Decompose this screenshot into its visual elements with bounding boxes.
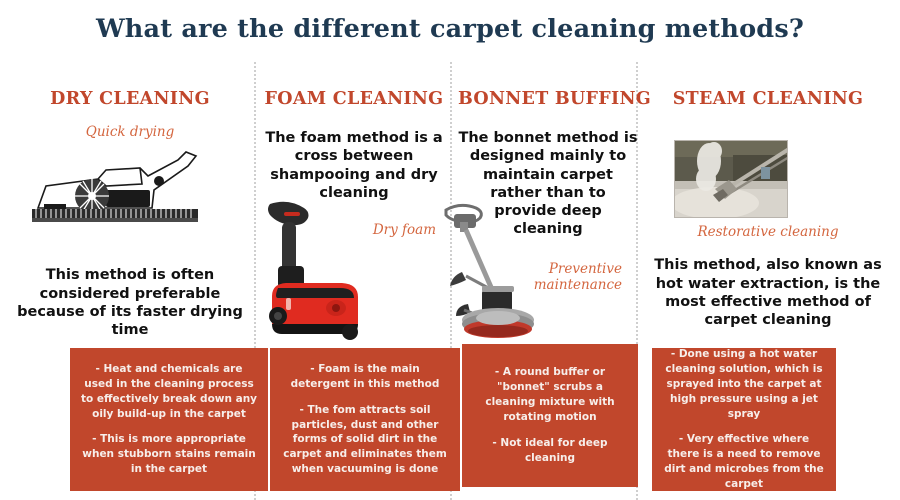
fact-item: - Foam is the main detergent in this met…	[280, 362, 450, 392]
column-steam-text-group: Restorative cleaning This method, also k…	[644, 224, 892, 344]
column-heading-dry-cleaning: DRY CLEANING	[8, 89, 252, 109]
fact-item: - Very effective where there is a need t…	[662, 432, 826, 492]
foam-cleaning-machine-photo	[258, 200, 374, 344]
fact-item: - Heat and chemicals are used in the cle…	[80, 362, 258, 422]
column-description-steam-cleaning: This method, also known as hot water ext…	[644, 256, 892, 329]
column-heading-steam-cleaning: STEAM CLEANING	[644, 89, 892, 109]
facts-box-steam-cleaning: - Done using a hot water cleaning soluti…	[652, 348, 836, 491]
column-heading-bonnet-buffing: BONNET BUFFING	[458, 89, 638, 109]
steam-cleaning-carpet-photo	[674, 140, 788, 218]
facts-box-bonnet-buffing: - A round buffer or "bonnet" scrubs a cl…	[462, 344, 638, 487]
page-title: What are the different carpet cleaning m…	[0, 14, 900, 44]
column-heading-foam-cleaning: FOAM CLEANING	[262, 89, 446, 109]
column-tagline-steam-cleaning: Restorative cleaning	[644, 224, 892, 240]
floor-buffer-machine-photo	[440, 198, 546, 344]
column-description-foam-cleaning: The foam method is a cross between shamp…	[262, 129, 446, 202]
facts-box-dry-cleaning: - Heat and chemicals are used in the cle…	[70, 348, 268, 491]
facts-box-foam-cleaning: - Foam is the main detergent in this met…	[270, 348, 460, 491]
fact-item: - The fom attracts soil particles, dust …	[280, 403, 450, 478]
fact-item: - This is more appropriate when stubborn…	[80, 432, 258, 477]
fact-item: - Done using a hot water cleaning soluti…	[662, 347, 826, 422]
fact-item: - A round buffer or "bonnet" scrubs a cl…	[472, 365, 628, 425]
column-description-dry-cleaning: This method is often considered preferab…	[8, 266, 252, 339]
dry-cleaning-machine-icon	[28, 146, 228, 228]
fact-item: - Not ideal for deep cleaning	[472, 436, 628, 466]
column-tagline-dry-cleaning: Quick drying	[8, 124, 252, 140]
infographic-root: What are the different carpet cleaning m…	[0, 0, 900, 500]
